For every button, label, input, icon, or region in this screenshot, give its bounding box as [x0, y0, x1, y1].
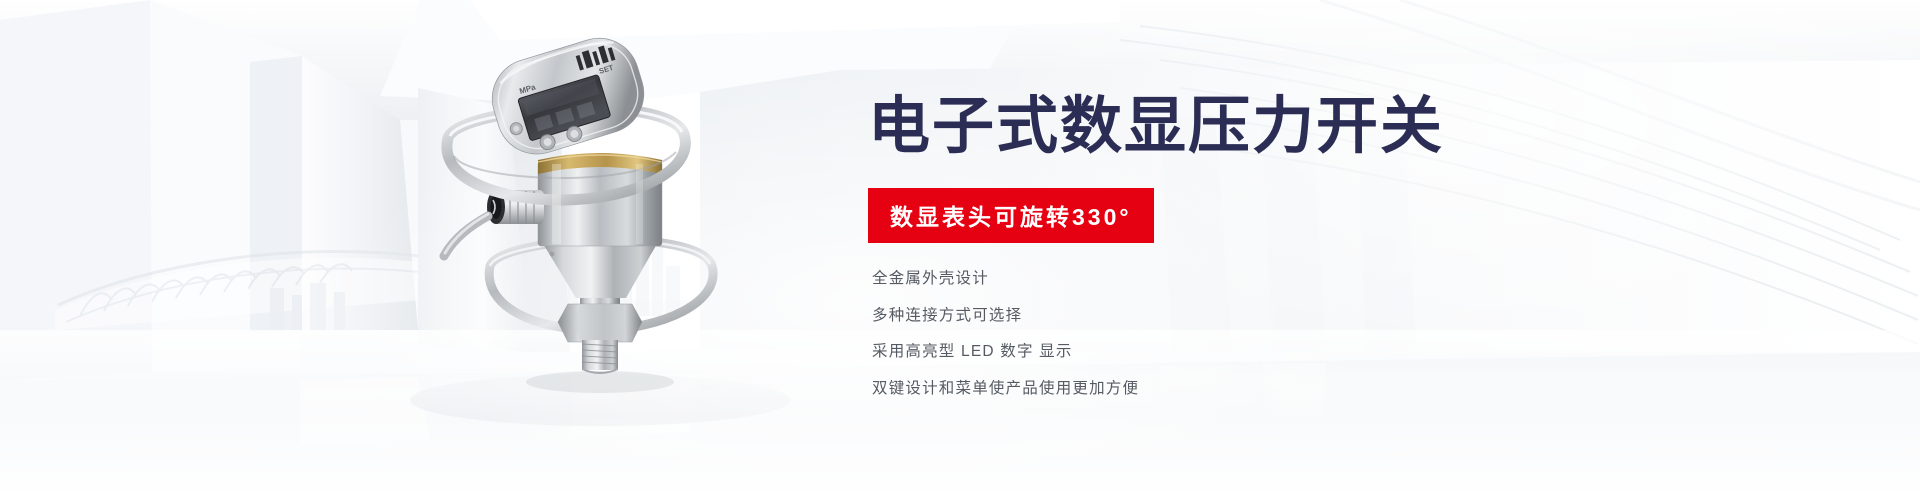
highlight-ribbon: 数显表头可旋转330°: [868, 188, 1154, 243]
feature-item: 采用高亮型 LED 数字 显示: [872, 344, 1688, 360]
feature-item: 全金属外壳设计: [872, 271, 1688, 287]
page-title: 电子式数显压力开关: [868, 96, 1688, 158]
banner-copy: 电子式数显压力开关 数显表头可旋转330° 全金属外壳设计 多种连接方式可选择 …: [868, 96, 1688, 396]
feature-item: 多种连接方式可选择: [872, 308, 1688, 324]
threaded-connector: [582, 340, 618, 374]
feature-list: 全金属外壳设计 多种连接方式可选择 采用高亮型 LED 数字 显示 双键设计和菜…: [868, 271, 1688, 396]
product-image-digital-pressure-switch: MPa SET: [430, 30, 770, 400]
feature-item: 双键设计和菜单使产品使用更加方便: [872, 381, 1688, 397]
product-banner: MPa SET: [0, 0, 1920, 500]
display-head: MPa SET: [482, 30, 654, 164]
